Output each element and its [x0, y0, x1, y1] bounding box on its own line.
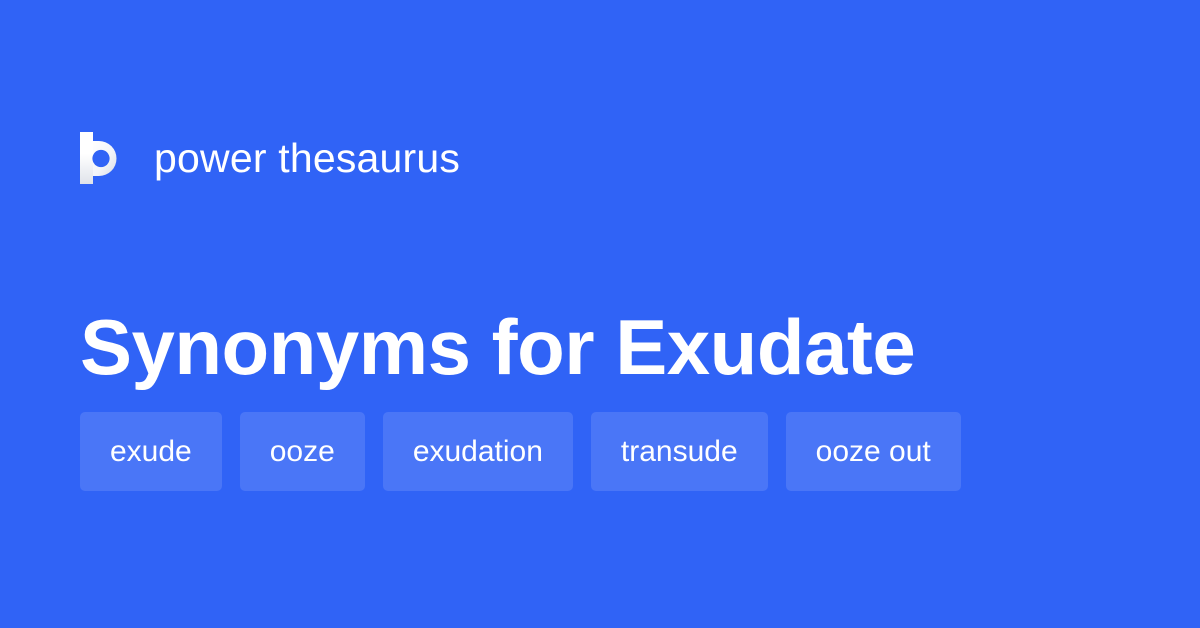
- synonym-list: exude ooze exudation transude ooze out: [80, 412, 961, 491]
- synonym-chip[interactable]: ooze out: [786, 412, 961, 491]
- brand-name: power thesaurus: [154, 138, 460, 179]
- synonym-label: exudation: [413, 437, 543, 467]
- synonym-chip[interactable]: ooze: [240, 412, 365, 491]
- synonym-chip[interactable]: exudation: [383, 412, 573, 491]
- share-card: power thesaurus Synonyms for Exudate exu…: [0, 0, 1200, 628]
- synonym-chip[interactable]: exude: [80, 412, 222, 491]
- synonym-label: ooze: [270, 437, 335, 467]
- synonym-label: exude: [110, 437, 192, 467]
- power-thesaurus-b-logo-icon: [80, 132, 126, 184]
- synonym-label: transude: [621, 437, 738, 467]
- synonym-label: ooze out: [816, 437, 931, 467]
- brand-logo[interactable]: power thesaurus: [80, 125, 460, 191]
- synonym-chip[interactable]: transude: [591, 412, 768, 491]
- page-title: Synonyms for Exudate: [80, 301, 915, 393]
